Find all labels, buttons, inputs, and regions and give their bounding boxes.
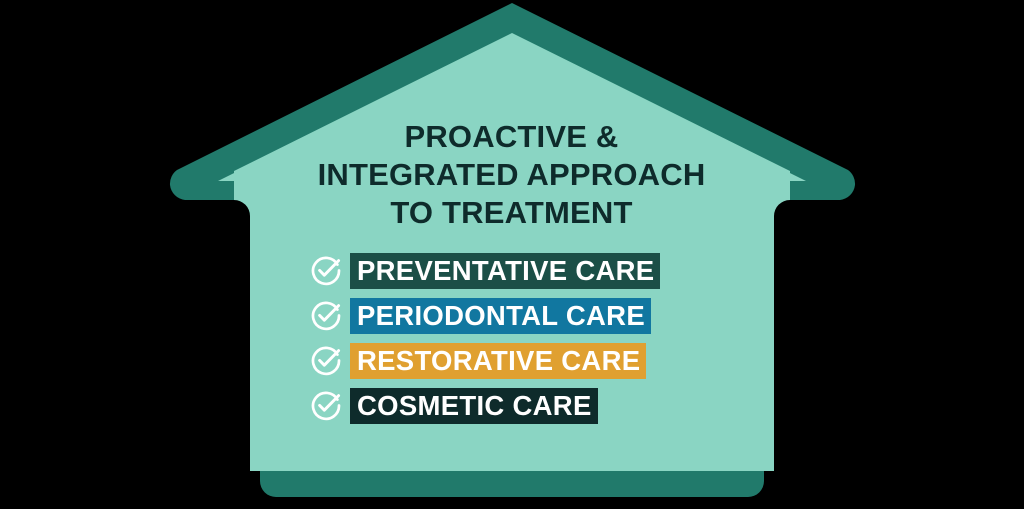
list-item[interactable]: PERIODONTAL CARE xyxy=(310,293,765,338)
list-item[interactable]: COSMETIC CARE xyxy=(310,383,765,428)
house-content: PROACTIVE & INTEGRATED APPROACH TO TREAT… xyxy=(258,0,765,509)
check-circle-icon xyxy=(310,344,342,376)
care-badge-periodontal: PERIODONTAL CARE xyxy=(350,298,651,334)
title-line-1: PROACTIVE & xyxy=(258,118,765,156)
list-item[interactable]: PREVENTATIVE CARE xyxy=(310,248,765,293)
page-title: PROACTIVE & INTEGRATED APPROACH TO TREAT… xyxy=(258,118,765,232)
care-badge-restorative: RESTORATIVE CARE xyxy=(350,343,646,379)
title-line-3: TO TREATMENT xyxy=(258,194,765,232)
care-badge-preventative: PREVENTATIVE CARE xyxy=(350,253,660,289)
check-circle-icon xyxy=(310,254,342,286)
infographic-canvas: PROACTIVE & INTEGRATED APPROACH TO TREAT… xyxy=(0,0,1024,509)
care-services-checklist: PREVENTATIVE CARE PERIODONTAL CARE xyxy=(310,248,765,428)
list-item[interactable]: RESTORATIVE CARE xyxy=(310,338,765,383)
check-circle-icon xyxy=(310,389,342,421)
care-badge-cosmetic: COSMETIC CARE xyxy=(350,388,598,424)
title-line-2: INTEGRATED APPROACH xyxy=(258,156,765,194)
check-circle-icon xyxy=(310,299,342,331)
